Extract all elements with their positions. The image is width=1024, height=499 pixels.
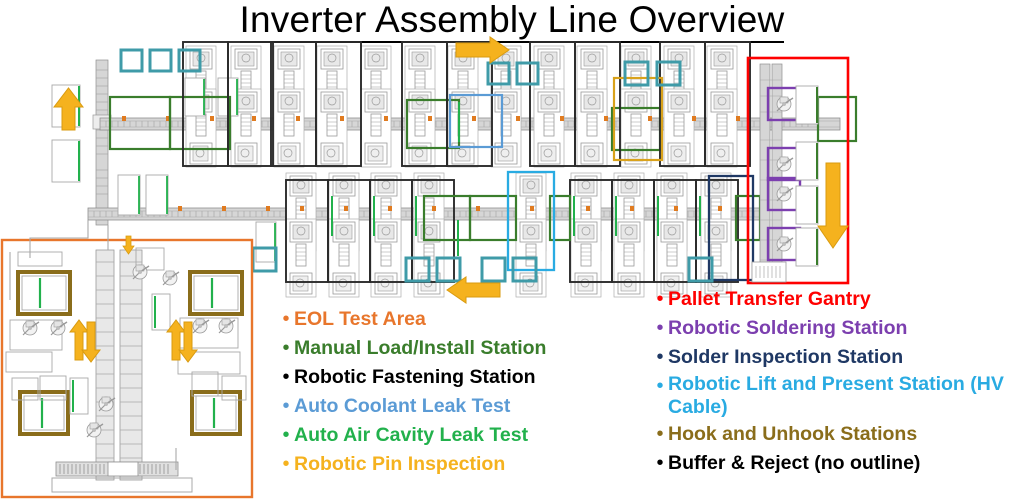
legend-label: Pallet Transfer Gantry: [668, 286, 871, 313]
legend-item-manual-load-install: • Manual Load/Install Station: [278, 335, 578, 362]
legend-item-solder-inspection-station: • Solder Inspection Station: [652, 344, 1024, 371]
legend-label: Auto Coolant Leak Test: [294, 393, 510, 420]
legend-bullet-icon: •: [278, 451, 294, 478]
left-vertical-conveyor: [93, 60, 111, 225]
legend-item-eol-test-area: • EOL Test Area: [278, 306, 578, 333]
legend-item-pallet-transfer-gantry: • Pallet Transfer Gantry: [652, 286, 1024, 313]
legend-bullet-icon: •: [652, 450, 668, 477]
flow-arrow-down-right: [818, 163, 848, 248]
legend-label: EOL Test Area: [294, 306, 426, 333]
legend-bullet-icon: •: [652, 373, 668, 400]
legend-bullet-icon: •: [652, 344, 668, 371]
legend-bullet-icon: •: [652, 421, 668, 448]
legend-item-robotic-soldering-station: • Robotic Soldering Station: [652, 315, 1024, 342]
legend-item-robotic-pin-inspection: • Robotic Pin Inspection: [278, 451, 578, 478]
legend-label: Buffer & Reject (no outline): [668, 450, 920, 477]
legend-label: Robotic Fastening Station: [294, 364, 536, 391]
legend-item-auto-coolant-leak-test: • Auto Coolant Leak Test: [278, 393, 578, 420]
legend-label: Robotic Soldering Station: [668, 315, 907, 342]
legend-bullet-icon: •: [278, 364, 294, 391]
legend-label: Manual Load/Install Station: [294, 335, 546, 362]
legend-bullet-icon: •: [278, 393, 294, 420]
legend-bullet-icon: •: [652, 286, 668, 313]
legend-right-column: • Pallet Transfer Gantry • Robotic Solde…: [652, 286, 1024, 479]
legend-item-auto-air-cavity-leak-test: • Auto Air Cavity Leak Test: [278, 422, 578, 449]
legend-bullet-icon: •: [278, 306, 294, 333]
legend-item-robotic-fastening: • Robotic Fastening Station: [278, 364, 578, 391]
legend-left-column: • EOL Test Area • Manual Load/Install St…: [278, 306, 578, 480]
legend-bullet-icon: •: [278, 422, 294, 449]
legend-item-robotic-lift-present-station: • Robotic Lift and Present Station (HV C…: [652, 373, 1024, 419]
legend-label: Hook and Unhook Stations: [668, 421, 917, 448]
eol-test-area-region: [2, 240, 252, 497]
legend-item-hook-unhook-stations: • Hook and Unhook Stations: [652, 421, 1024, 448]
legend-label: Solder Inspection Station: [668, 344, 903, 371]
legend-label: Auto Air Cavity Leak Test: [294, 422, 528, 449]
legend-bullet-icon: •: [278, 335, 294, 362]
legend-label: Robotic Lift and Present Station (HV Cab…: [668, 373, 1024, 419]
legend-bullet-icon: •: [652, 315, 668, 342]
legend-item-buffer-reject: • Buffer & Reject (no outline): [652, 450, 1024, 477]
legend-label: Robotic Pin Inspection: [294, 451, 505, 478]
